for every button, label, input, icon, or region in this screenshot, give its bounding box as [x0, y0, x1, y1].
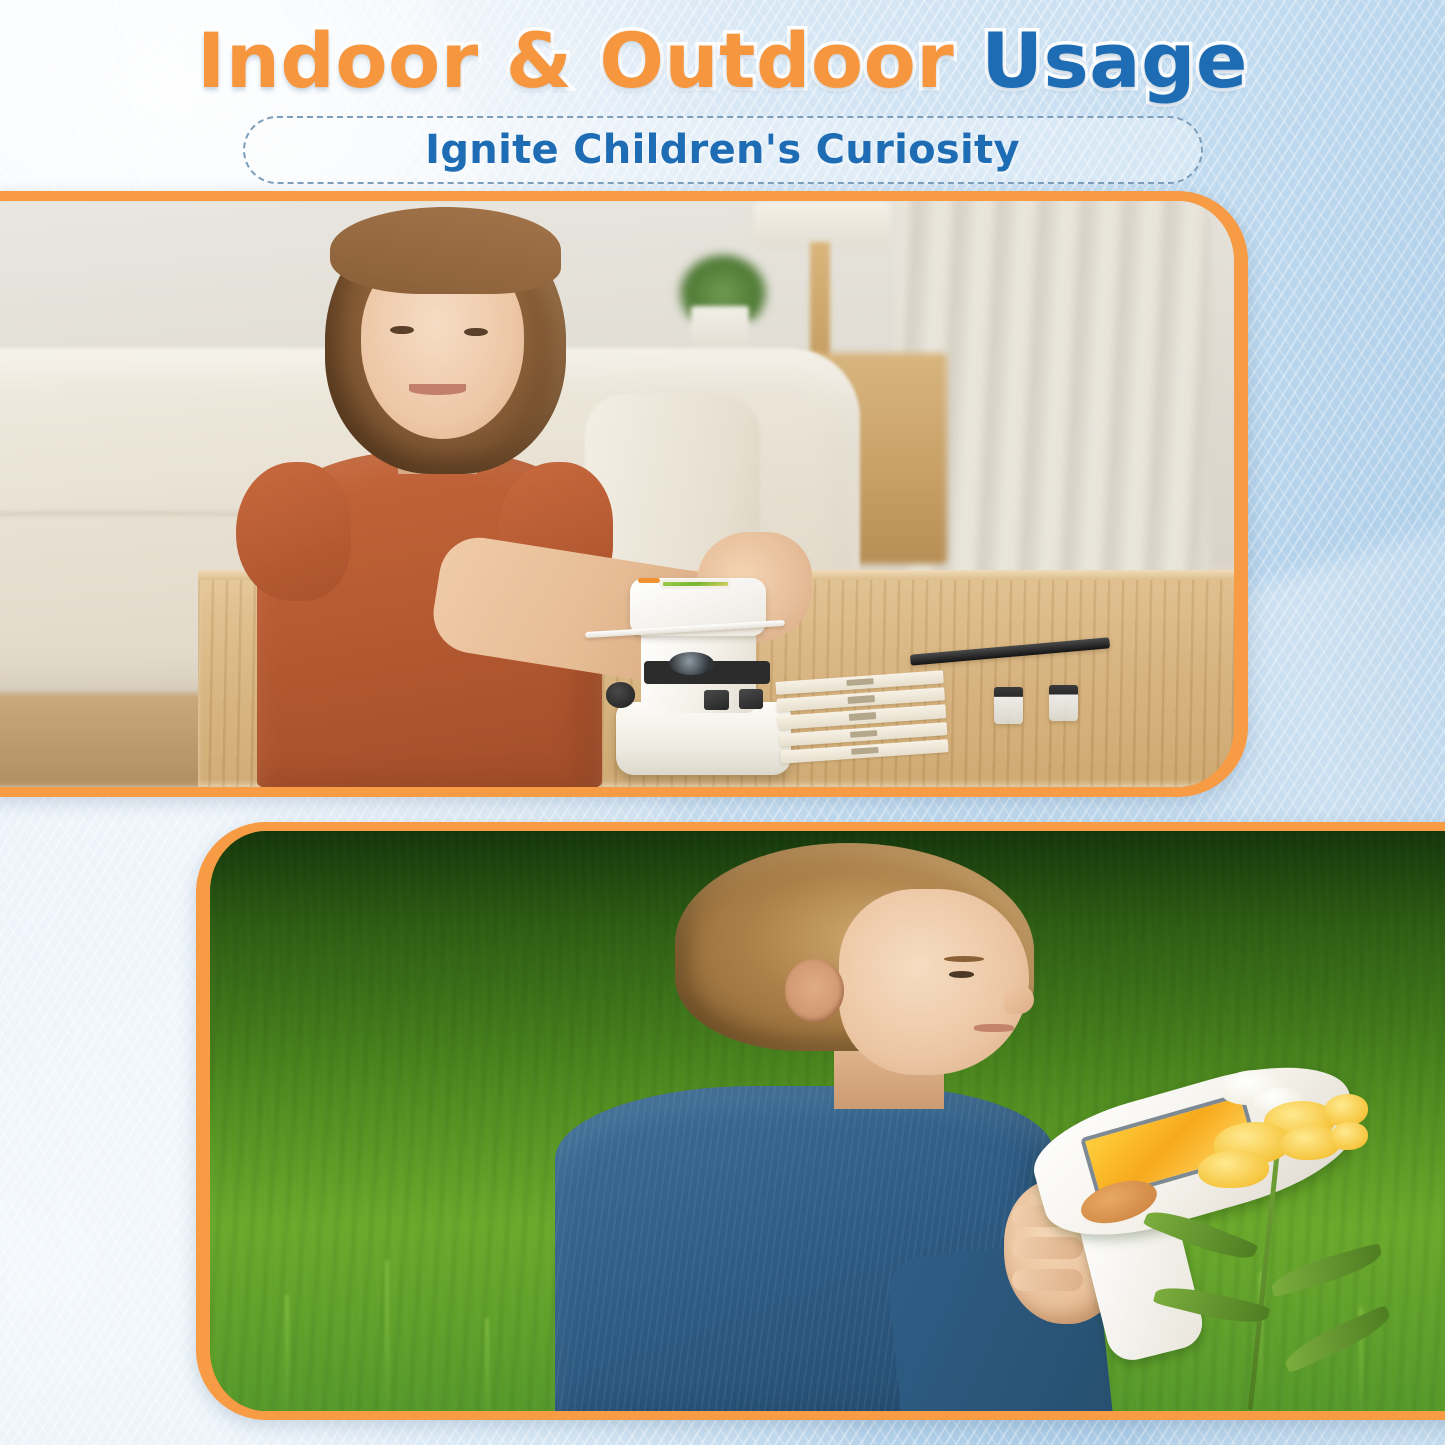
- microscope-screen: [660, 579, 731, 589]
- accessory-black-block-1: [704, 690, 729, 710]
- flower-leaf: [1280, 1305, 1395, 1374]
- indoor-usage-photo: [0, 191, 1248, 797]
- accessory-slide-set: [776, 670, 950, 764]
- flower-bud-yellow: [1324, 1094, 1368, 1125]
- boy-nose: [1004, 985, 1034, 1014]
- girl-sleeve-left: [236, 462, 351, 601]
- outdoor-usage-photo: [196, 822, 1445, 1420]
- indoor-scene: [0, 201, 1234, 787]
- girl-hair-fringe: [330, 207, 561, 294]
- desktop-microscope: [616, 582, 791, 775]
- flower-petal-yellow: [1198, 1150, 1269, 1188]
- accessory-black-block-2: [739, 689, 764, 709]
- flower-bud-yellow: [1330, 1122, 1368, 1150]
- accessory-specimen-vial-1: [994, 687, 1023, 723]
- girl-eye-right: [464, 328, 488, 337]
- boy-eye: [949, 971, 974, 977]
- flower-leaf: [1153, 1279, 1271, 1331]
- microscope-lens: [669, 652, 714, 675]
- boy-lips: [974, 1024, 1014, 1032]
- lamp-shade: [754, 201, 891, 248]
- microscope-orange-accent: [638, 578, 660, 583]
- yellow-flowers: [1159, 1063, 1434, 1411]
- header: Indoor & Outdoor Usage Ignite Children's…: [0, 0, 1445, 192]
- flower-leaf: [1142, 1202, 1258, 1268]
- girl-mouth: [409, 384, 467, 394]
- page-title-primary: Indoor & Outdoor: [197, 16, 954, 105]
- page-subtitle: Ignite Children's Curiosity: [425, 127, 1020, 173]
- accessory-specimen-vial-2: [1049, 685, 1078, 721]
- outdoor-scene: [210, 831, 1445, 1411]
- product-marketing-poster: Indoor & Outdoor Usage Ignite Children's…: [0, 0, 1445, 1445]
- page-title-secondary: Usage: [954, 16, 1248, 105]
- flower-leaf: [1268, 1242, 1386, 1297]
- page-title: Indoor & Outdoor Usage: [0, 0, 1445, 102]
- boy-face: [839, 889, 1029, 1075]
- microscope-focus-knob: [606, 682, 636, 707]
- subtitle-pill: Ignite Children's Curiosity: [243, 116, 1203, 184]
